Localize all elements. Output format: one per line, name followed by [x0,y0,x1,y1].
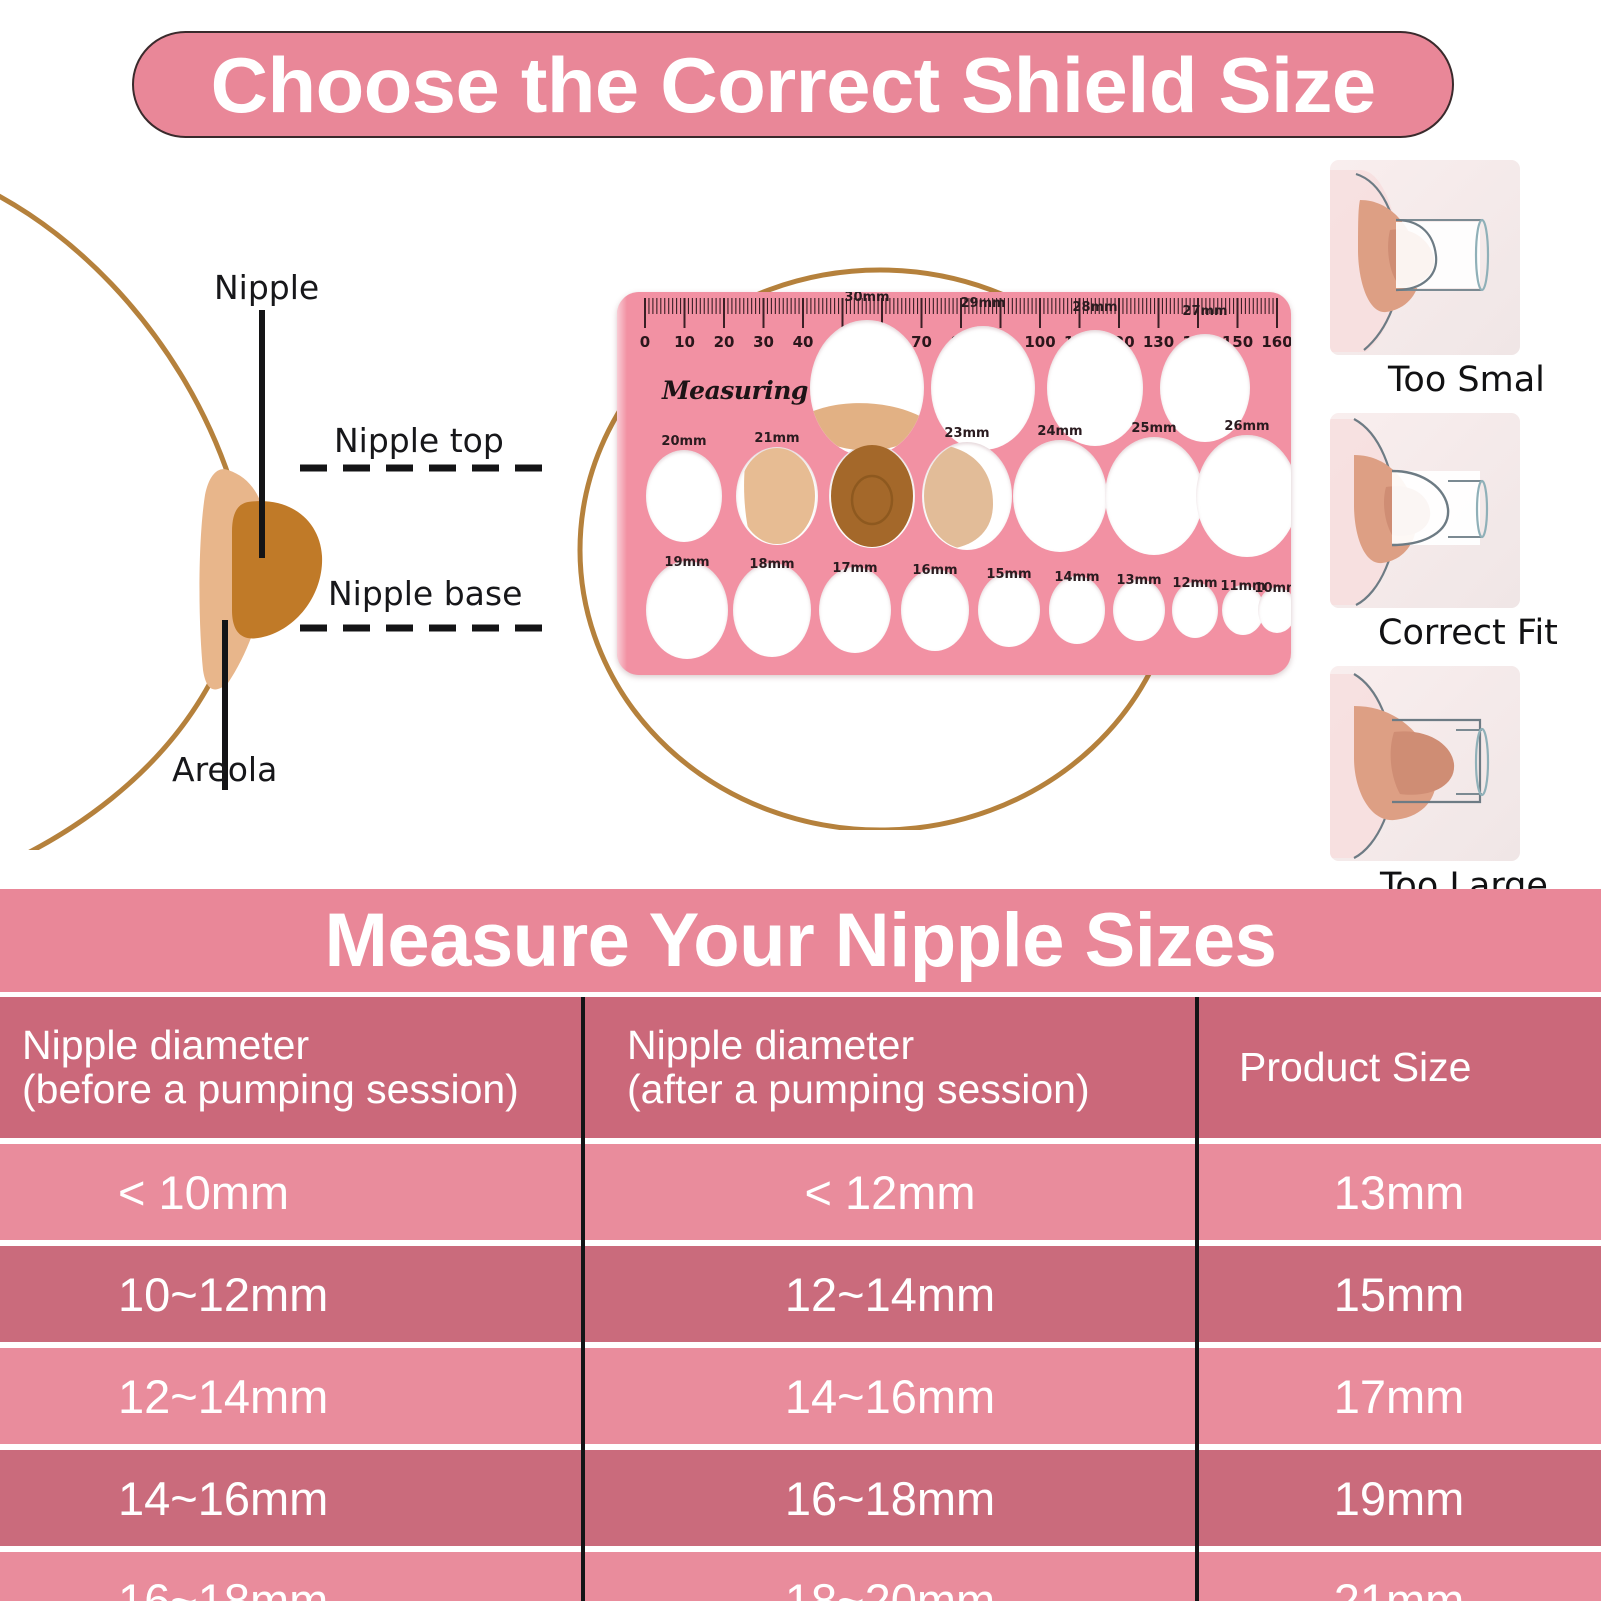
fit-example-too-small: Too Smal [1330,160,1520,355]
measuring-hole-26mm [1196,435,1291,557]
page-title: Choose the Correct Shield Size [210,46,1375,124]
column-divider-1 [581,997,585,1601]
measuring-card-illustration: 0102030405060708090100110120130140150160… [560,250,1120,730]
measuring-hole-label-30mm: 30mm [837,292,897,305]
measuring-hole-20mm [646,450,722,541]
measuring-hole-21mm [736,447,818,545]
cell-product-4: 21mm [1197,1552,1601,1601]
measuring-hole-24mm [1013,440,1107,553]
svg-text:10: 10 [674,333,695,351]
cell-product-0: 13mm [1197,1144,1601,1240]
header-before-pumping: Nipple diameter (before a pumping sessio… [0,997,583,1138]
measuring-hole-label-27mm: 27mm [1175,304,1235,319]
svg-text:20: 20 [714,333,735,351]
column-divider-2 [1195,997,1199,1601]
measuring-hole-14mm [1049,576,1105,643]
measuring-hole-label-13mm: 13mm [1109,573,1169,588]
measuring-hole-label-22mm: 22mm [842,428,902,443]
fit-label-correct-fit: Correct Fit [1378,613,1558,653]
breast-illustration [0,150,560,850]
shield-fit-too-small-icon [1330,160,1520,355]
measuring-hole-13mm [1113,579,1165,641]
label-nipple: Nipple [214,268,319,307]
measuring-card: 0102030405060708090100110120130140150160… [617,292,1291,675]
cell-after-3: 16~18mm [583,1450,1197,1546]
measuring-hole-label-25mm: 25mm [1124,421,1184,436]
cell-before-0: < 10mm [0,1144,583,1240]
measure-sizes-title: Measure Your Nipple Sizes [325,903,1277,979]
measuring-hole-label-21mm: 21mm [747,431,807,446]
cell-after-1: 12~14mm [583,1246,1197,1342]
fit-example-too-large: Too Large [1330,666,1520,861]
measuring-hole-label-23mm: 23mm [937,426,997,441]
size-chart-table: Nipple diameter (before a pumping sessio… [0,997,1601,1601]
header-product-size: Product Size [1197,997,1601,1138]
measuring-hole-label-19mm: 19mm [657,555,717,570]
table-row: 16~18mm18~20mm21mm [0,1552,1601,1601]
measuring-hole-label-20mm: 20mm [654,434,714,449]
label-nipple-top: Nipple top [334,421,504,460]
svg-text:100: 100 [1024,333,1055,351]
measuring-hole-25mm [1105,437,1203,555]
cell-before-1: 10~12mm [0,1246,583,1342]
measuring-hole-label-10mm: 10mm [1247,581,1291,596]
header-after-pumping: Nipple diameter (after a pumping session… [583,997,1197,1138]
label-areola: Areola [172,750,277,789]
svg-text:70: 70 [911,333,932,351]
cell-product-1: 15mm [1197,1246,1601,1342]
svg-text:130: 130 [1143,333,1174,351]
svg-text:30: 30 [753,333,774,351]
measuring-hole-22mm [829,444,915,547]
measuring-hole-label-16mm: 16mm [905,563,965,578]
measuring-hole-label-24mm: 24mm [1030,424,1090,439]
measure-sizes-banner: Measure Your Nipple Sizes [0,889,1601,992]
cell-after-0: < 12mm [583,1144,1197,1240]
cell-after-2: 14~16mm [583,1348,1197,1444]
measuring-hole-label-26mm: 26mm [1217,419,1277,434]
table-row: 12~14mm14~16mm17mm [0,1348,1601,1444]
measuring-hole-label-17mm: 17mm [825,561,885,576]
measuring-hole-label-29mm: 29mm [953,296,1013,311]
measuring-hole-label-15mm: 15mm [979,567,1039,582]
measuring-hole-17mm [819,567,891,653]
cell-before-4: 16~18mm [0,1552,583,1601]
fit-label-too-small: Too Smal [1388,360,1545,400]
cell-product-2: 17mm [1197,1348,1601,1444]
fit-example-correct: Correct Fit [1330,413,1520,608]
cell-before-3: 14~16mm [0,1450,583,1546]
svg-text:0: 0 [640,333,650,351]
measuring-hole-23mm [922,442,1012,550]
page-title-banner: Choose the Correct Shield Size [132,31,1454,138]
svg-text:160: 160 [1261,333,1291,351]
breast-anatomy-diagram: Nipple Nipple top Nipple base Areola [0,150,560,850]
measuring-hole-19mm [646,561,728,659]
measuring-hole-label-18mm: 18mm [742,557,802,572]
shield-fit-correct-icon [1330,413,1520,608]
measuring-hole-16mm [901,569,969,651]
measuring-hole-15mm [978,573,1040,647]
cell-product-3: 19mm [1197,1450,1601,1546]
cell-before-2: 12~14mm [0,1348,583,1444]
measuring-hole-label-14mm: 14mm [1047,570,1107,585]
svg-text:40: 40 [793,333,814,351]
table-row: < 10mm< 12mm13mm [0,1144,1601,1240]
table-header-row: Nipple diameter (before a pumping sessio… [0,997,1601,1138]
cell-after-4: 18~20mm [583,1552,1197,1601]
measuring-hole-label-28mm: 28mm [1065,300,1125,315]
table-row: 14~16mm16~18mm19mm [0,1450,1601,1546]
shield-fit-too-large-icon [1330,666,1520,861]
table-row: 10~12mm12~14mm15mm [0,1246,1601,1342]
measuring-hole-18mm [733,563,811,657]
label-nipple-base: Nipple base [328,574,522,613]
shield-fit-examples: Too Smal Correct Fit [1330,160,1601,860]
